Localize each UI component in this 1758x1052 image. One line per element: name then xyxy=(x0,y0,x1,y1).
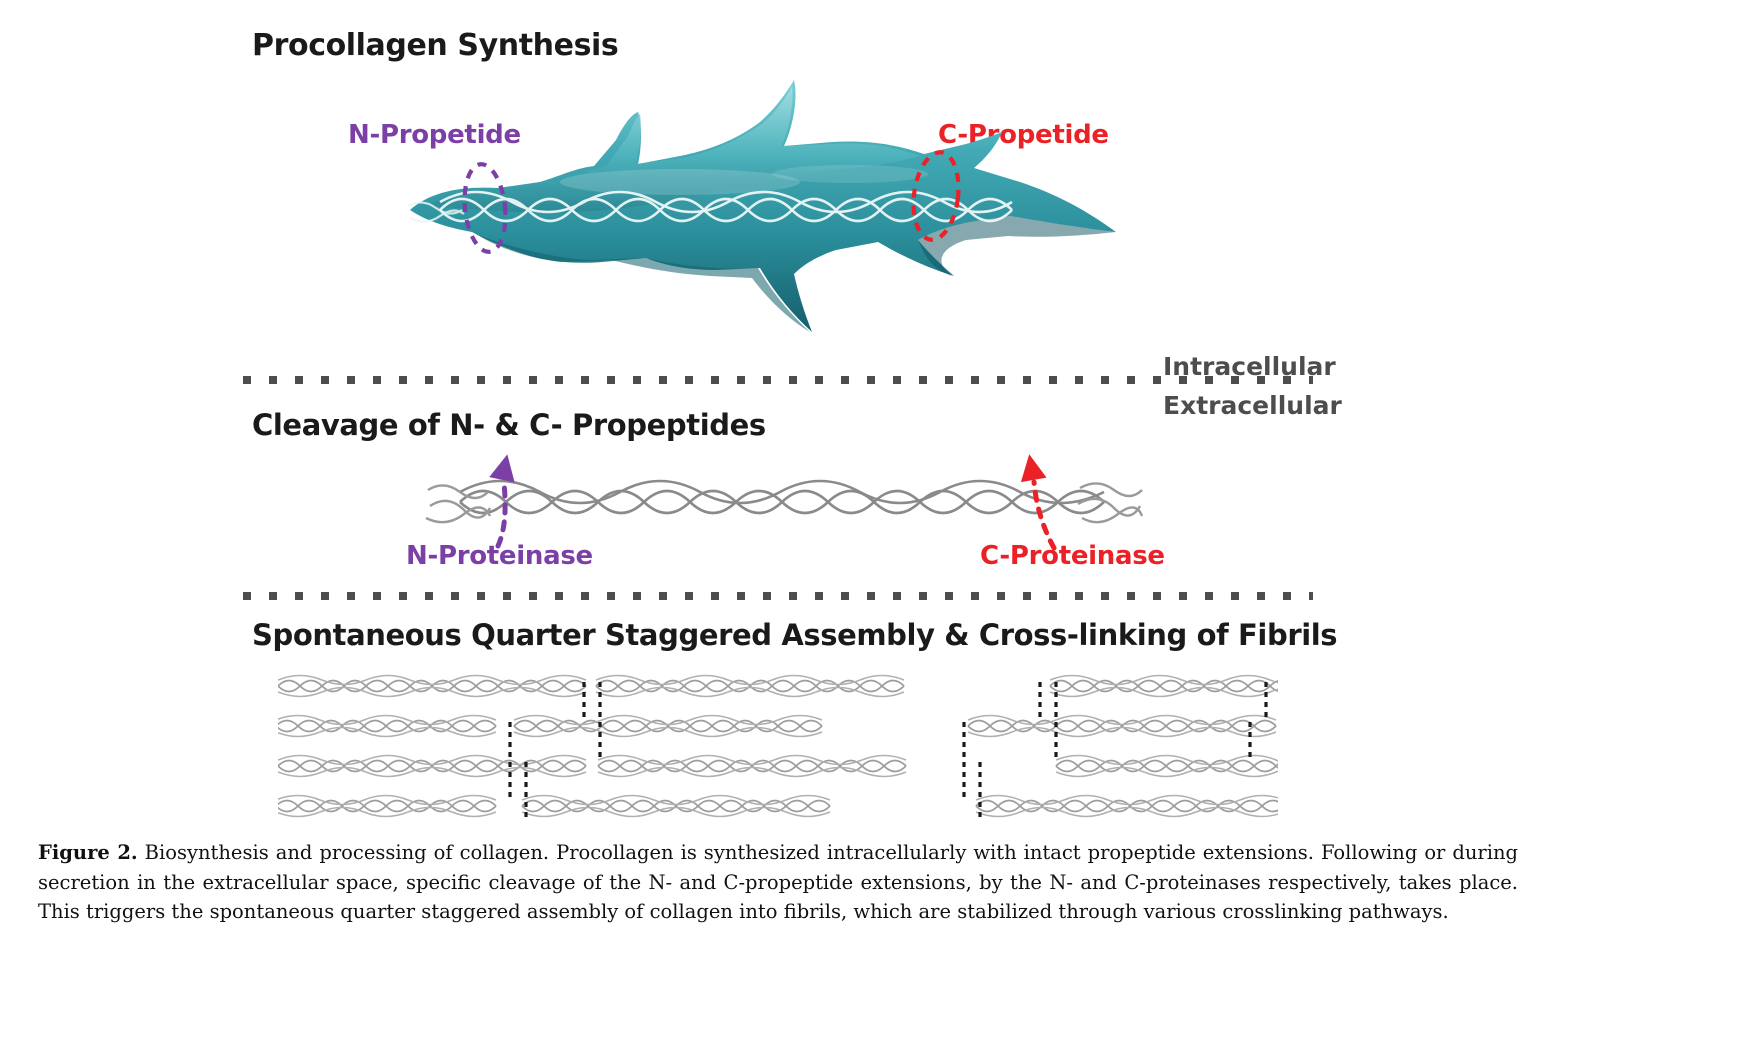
helix-strands xyxy=(460,481,1104,513)
heading-procollagen-synthesis: Procollagen Synthesis xyxy=(252,28,618,63)
caption-text: Biosynthesis and processing of collagen.… xyxy=(38,841,1518,923)
plasma-membrane-divider-upper xyxy=(243,376,1313,384)
procollagen-molecule-illustration xyxy=(380,70,1170,360)
label-c-proteinase: C-Proteinase xyxy=(980,541,1165,571)
label-n-proteinase: N-Proteinase xyxy=(406,541,593,571)
fibril-quarter-staggered-array xyxy=(278,670,1278,825)
n-proteinase-cleavage-arrow xyxy=(489,452,520,546)
fibril-row xyxy=(278,716,1276,737)
label-intracellular: Intracellular xyxy=(1163,352,1336,381)
divider-lower xyxy=(243,592,1313,600)
fibril-row xyxy=(278,756,1278,777)
c-proteinase-cleavage-arrow xyxy=(1016,452,1054,548)
heading-cleavage-propeptides: Cleavage of N- & C- Propeptides xyxy=(252,408,766,442)
heading-quarter-staggered-assembly: Spontaneous Quarter Staggered Assembly &… xyxy=(252,618,1337,652)
label-extracellular: Extracellular xyxy=(1163,391,1342,420)
figure-root: Procollagen Synthesis N-Propetide C-Prop… xyxy=(0,0,1758,1052)
caption-label: Figure 2. xyxy=(38,841,138,864)
procollagen-teal-body xyxy=(410,80,1116,332)
fibril-row xyxy=(278,676,1278,697)
fibril-row xyxy=(278,796,1278,817)
c-terminal-frayed-ends xyxy=(1078,483,1142,522)
figure-caption: Figure 2. Biosynthesis and processing of… xyxy=(38,838,1518,927)
